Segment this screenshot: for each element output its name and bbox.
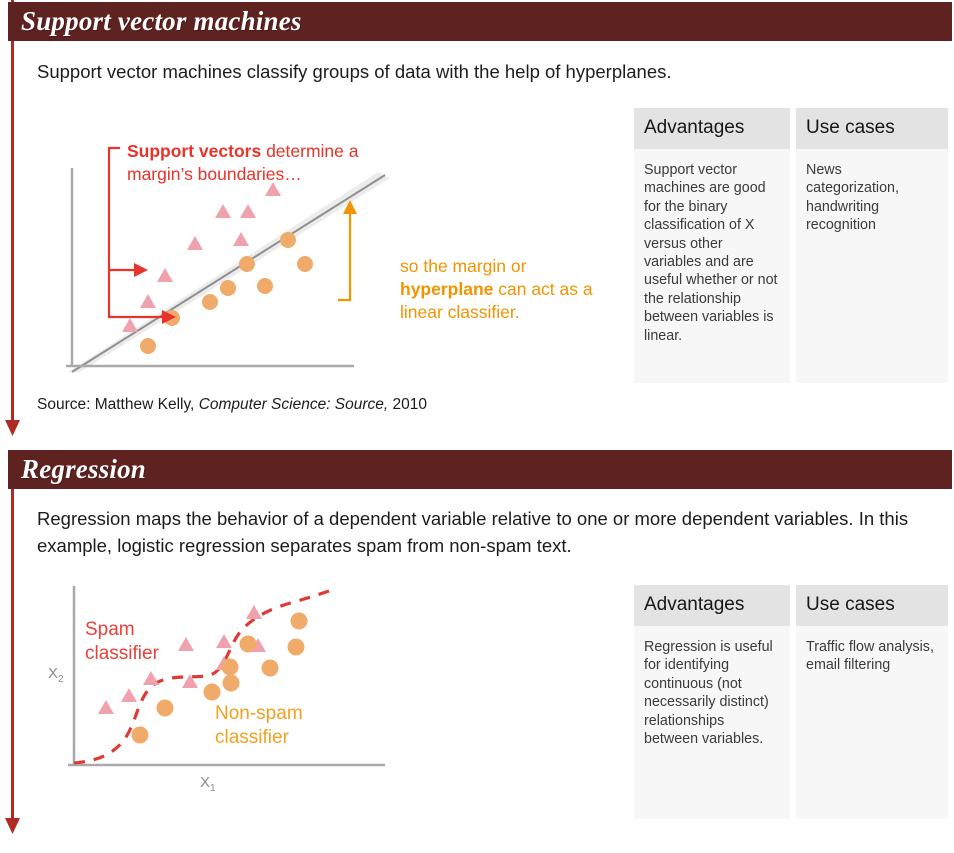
red-arrowhead-lower	[162, 310, 176, 324]
section-header-regression: Regression	[8, 450, 952, 489]
svm-advantages-body: Support vector machines are good for the…	[634, 149, 790, 383]
reg-usecases-header: Use cases	[796, 585, 948, 626]
connector-arrow-to-regression	[3, 420, 22, 437]
reg-x-axis-label: X1	[200, 774, 216, 794]
svm-usecases-body: News categorization, handwriting recogni…	[796, 149, 948, 383]
connector-arrow-end	[3, 818, 22, 835]
connector-rail-bottom	[11, 487, 14, 822]
reg-advantages-body: Regression is useful for identifying con…	[634, 626, 790, 819]
orange-arrowhead	[343, 200, 357, 214]
regression-nonspam-label: Non-spam classifier	[215, 702, 345, 750]
svm-source-italic: Computer Science: Source,	[199, 396, 389, 413]
red-arrowhead-upper	[134, 263, 148, 277]
svm-intro-text: Support vector machines classify groups …	[37, 58, 737, 85]
svm-orange-line1: so the margin or	[400, 255, 610, 278]
section-header-svm: Support vector machines	[8, 2, 952, 41]
reg-col-advantages: Advantages Regression is useful for iden…	[634, 585, 790, 819]
svm-source: Source: Matthew Kelly, Computer Science:…	[37, 396, 427, 414]
svm-advantages-header: Advantages	[634, 108, 790, 149]
svm-source-year: 2010	[393, 396, 427, 413]
svm-usecases-header: Use cases	[796, 108, 948, 149]
svm-orange-annotation: so the margin or hyperplane can act as a…	[400, 255, 610, 324]
orange-leader-path	[338, 214, 350, 300]
svm-info-table: Advantages Support vector machines are g…	[634, 108, 948, 383]
regression-chart: X2 X1	[40, 580, 400, 795]
regression-intro-text: Regression maps the behavior of a depend…	[37, 505, 917, 559]
regression-title: Regression	[8, 454, 146, 485]
svm-source-prefix: Source: Matthew Kelly,	[37, 396, 194, 413]
regression-info-table: Advantages Regression is useful for iden…	[634, 585, 948, 819]
regression-spam-label: Spam classifier	[85, 618, 195, 666]
reg-advantages-header: Advantages	[634, 585, 790, 626]
svm-col-usecases: Use cases News categorization, handwriti…	[796, 108, 948, 383]
connector-rail-top	[11, 0, 14, 424]
svm-red-annotation: Support vectors determine a margin’s bou…	[127, 140, 417, 186]
regression-chart-svg: X2 X1	[40, 580, 400, 795]
reg-y-axis-label: X2	[48, 665, 64, 685]
reg-col-usecases: Use cases Traffic flow analysis, email f…	[796, 585, 948, 819]
svm-red-annotation-bold: Support vectors	[127, 141, 261, 161]
reg-usecases-body: Traffic flow analysis, email filtering	[796, 626, 948, 819]
page-title: Support vector machines	[8, 6, 302, 37]
svm-orange-bold: hyperplane	[400, 279, 493, 299]
svm-orange-leader	[330, 200, 390, 315]
svm-col-advantages: Advantages Support vector machines are g…	[634, 108, 790, 383]
